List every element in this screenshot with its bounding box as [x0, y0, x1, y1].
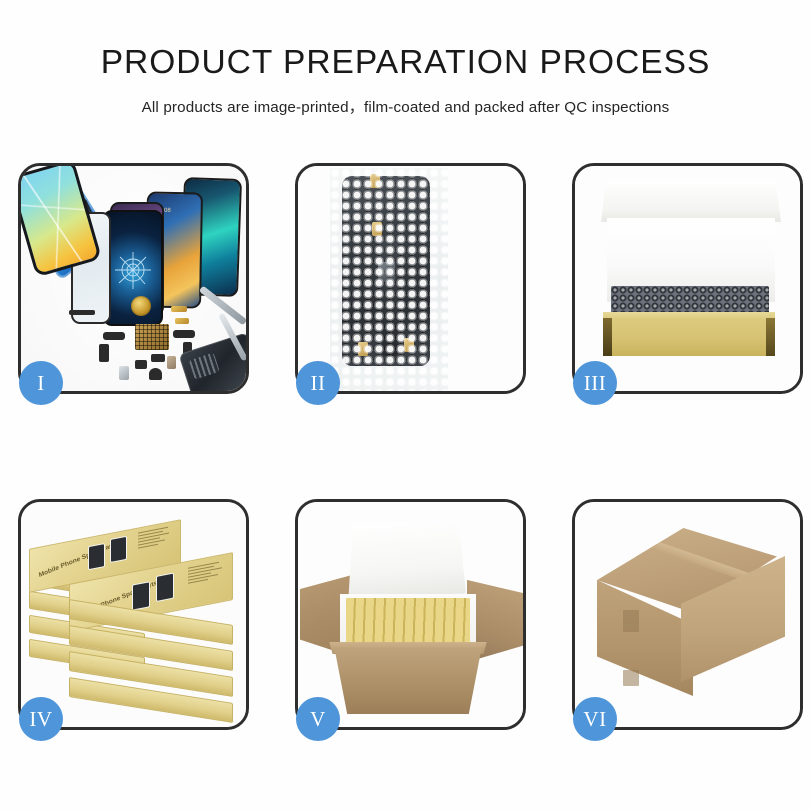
sealed-carton — [589, 528, 785, 700]
part-flex-cable-2 — [99, 344, 109, 362]
part-gold-flex-1 — [171, 306, 187, 312]
step-4-image: Mobile Phone Spare Parts Mobile Phone Sp… — [21, 502, 246, 727]
carton-patch-lower — [623, 670, 639, 686]
product-preparation-process-page: PRODUCT PREPARATION PROCESS All products… — [0, 0, 811, 811]
step-5-badge: V — [296, 697, 340, 741]
process-step-1: 08:08 — [18, 163, 249, 394]
process-step-grid: 08:08 — [18, 163, 793, 730]
step-1-image: 08:08 — [21, 166, 246, 391]
step-2-badge: II — [296, 361, 340, 405]
process-step-2: II — [295, 163, 526, 394]
part-flex-cable-3 — [173, 330, 195, 338]
step-2-image — [298, 166, 523, 391]
page-subtitle: All products are image-printed，film-coat… — [0, 95, 811, 117]
bubble-texture-highlight — [330, 168, 448, 391]
process-step-6: VI — [572, 499, 803, 730]
box-spec-lines-back — [138, 526, 172, 551]
step-6-badge: VI — [573, 697, 617, 741]
inner-box-base — [603, 318, 775, 356]
part-flex-cable-1 — [103, 332, 125, 340]
bubble-wrap-bag — [330, 168, 448, 391]
ic-chip-grid — [135, 324, 169, 350]
page-title: PRODUCT PREPARATION PROCESS — [0, 44, 811, 82]
box-screen-image-d — [156, 573, 174, 602]
part-earpiece-mesh — [69, 310, 95, 315]
carton-patch-upper — [623, 610, 639, 632]
part-sim-tray — [119, 366, 129, 380]
process-step-5: V — [295, 499, 526, 730]
box-screen-image-b — [110, 536, 127, 563]
step-5-image — [298, 502, 523, 727]
retail-box-stack: Mobile Phone Spare Parts Mobile Phone Sp… — [25, 512, 246, 724]
step-1-badge: I — [19, 361, 63, 405]
part-connector — [151, 354, 165, 362]
part-gold-flex-2 — [175, 318, 189, 324]
box-spec-lines-front — [188, 561, 224, 586]
box-screen-image-a — [88, 543, 105, 570]
part-speaker — [149, 368, 162, 380]
box-label-text-back: Mobile Phone Spare Parts — [38, 540, 118, 578]
process-step-4: Mobile Phone Spare Parts Mobile Phone Sp… — [18, 499, 249, 730]
cracked-phone-gradient — [21, 166, 102, 277]
part-battery-connector — [167, 356, 176, 369]
step-4-badge: IV — [19, 697, 63, 741]
gold-boxes-inside — [346, 598, 470, 648]
step-3-image — [575, 166, 800, 391]
spare-parts-cluster — [95, 294, 245, 390]
page-header: PRODUCT PREPARATION PROCESS All products… — [0, 0, 811, 117]
step-3-badge: III — [573, 361, 617, 405]
vibration-motor-icon — [131, 296, 151, 316]
inner-box-lid — [601, 180, 781, 222]
foam-cooler-lid — [346, 522, 466, 598]
part-camera-module — [135, 360, 147, 369]
crack-pattern-icon — [113, 250, 153, 290]
box-screen-image-c — [132, 581, 150, 610]
process-step-3: III — [572, 163, 803, 394]
step-6-image — [575, 502, 800, 727]
carton-body — [328, 648, 488, 714]
